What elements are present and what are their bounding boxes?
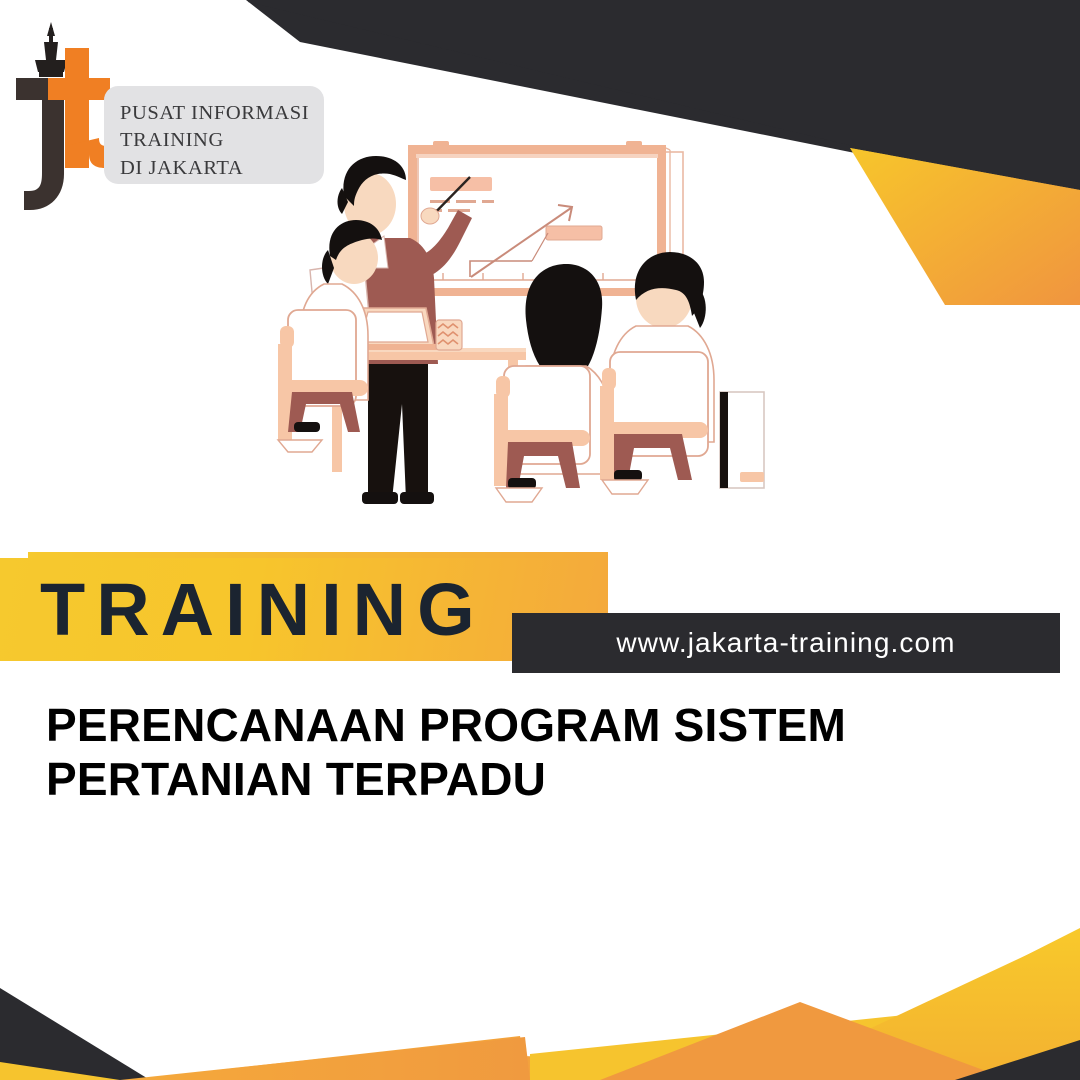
training-label: TRAINING <box>40 566 486 654</box>
poster-canvas: PUSAT INFORMASI TRAINING DI JAKARTA <box>0 0 1080 1080</box>
training-classroom-illustration <box>258 130 828 530</box>
participant-left <box>278 220 382 452</box>
website-bar[interactable]: www.jakarta-training.com <box>512 613 1060 673</box>
website-url-text: www.jakarta-training.com <box>512 613 1060 673</box>
page-title: PERENCANAAN PROGRAM SISTEM PERTANIAN TER… <box>46 698 1006 806</box>
monument-icon <box>35 22 67 77</box>
letter-t-crossbar <box>48 78 110 100</box>
bottom-orange-band-left <box>120 1037 530 1080</box>
trash-bin <box>720 392 764 488</box>
participant-middle <box>494 264 610 502</box>
letter-t-stem <box>65 48 89 168</box>
